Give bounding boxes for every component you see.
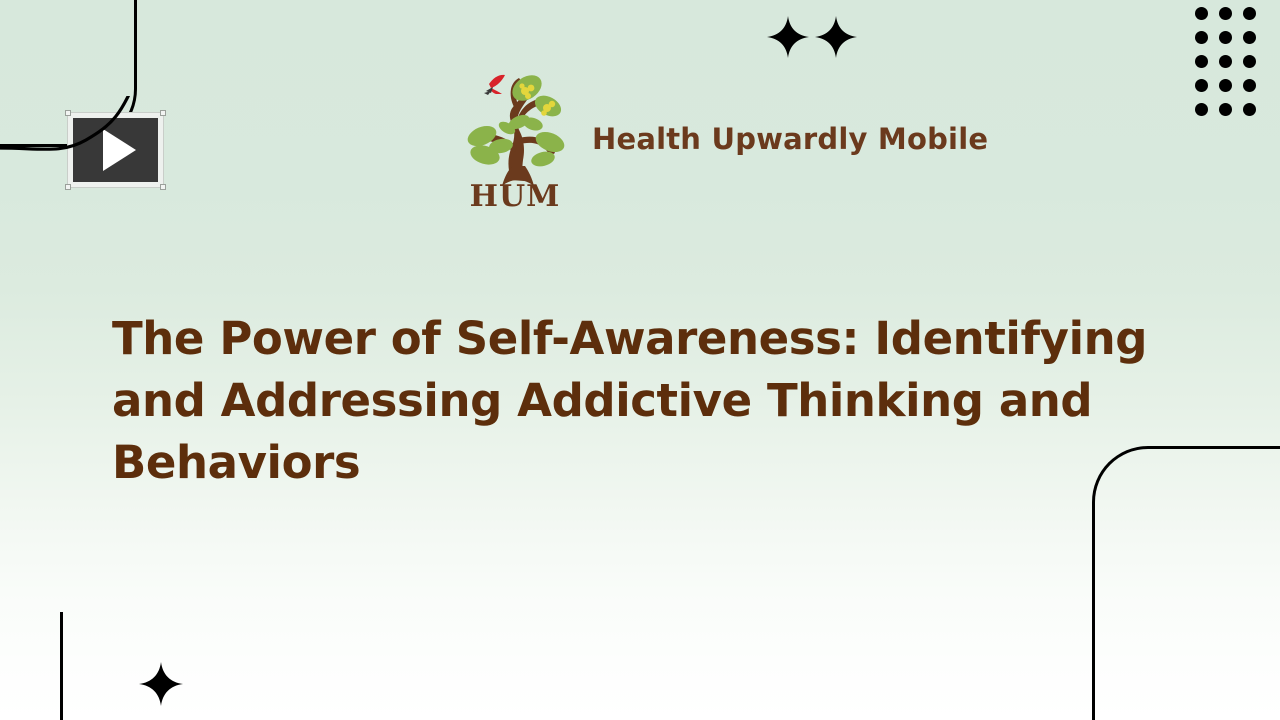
sparkle-icon [767,16,809,58]
play-icon[interactable] [103,129,136,171]
sparkle-icon [815,16,857,58]
grid-dot [1195,7,1208,20]
decor-dot-grid [1195,7,1267,127]
grid-dot [1219,31,1232,44]
hum-tree-logo-icon: HUM [455,60,575,210]
grid-dot [1243,7,1256,20]
selection-handle-top-left[interactable] [65,110,71,116]
selection-handle-bottom-right[interactable] [160,184,166,190]
video-play-thumbnail[interactable] [67,112,164,188]
grid-dot [1219,7,1232,20]
grid-dot [1195,31,1208,44]
grid-dot [1219,55,1232,68]
page-title: The Power of Self-Awareness: Identifying… [112,308,1172,494]
grid-dot [1243,55,1256,68]
grid-dot [1195,55,1208,68]
brand-wordmark: Health Upwardly Mobile [592,122,988,156]
selection-handle-top-right[interactable] [160,110,166,116]
grid-dot [1243,79,1256,92]
brand-lockup: HUM Health Upwardly Mobile [455,60,915,210]
grid-dot [1219,79,1232,92]
selection-handle-bottom-left[interactable] [65,184,71,190]
grid-dot [1195,79,1208,92]
slide-canvas: HUM Health Upwardly Mobile The Power of … [0,0,1280,720]
svg-text:HUM: HUM [470,179,561,210]
sparkle-icon [139,662,183,706]
grid-dot [1219,103,1232,116]
grid-dot [1243,31,1256,44]
grid-dot [1243,103,1256,116]
video-screen[interactable] [73,118,158,182]
grid-dot [1195,103,1208,116]
decor-vertical-line-bottom-left [60,612,63,720]
